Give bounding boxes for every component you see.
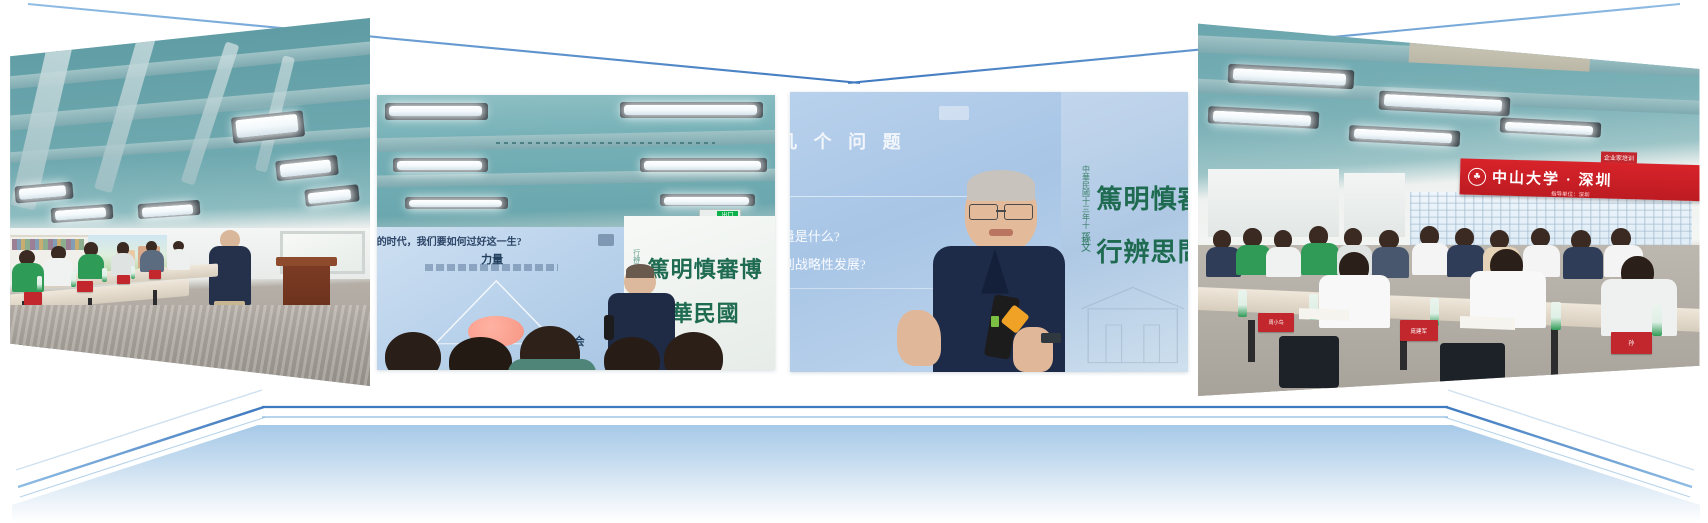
gallery-photo-speaker-portrait[interactable]: 几 个 问 题 量是什么? 到战略性发展? 中華民國十三年十一月 孫文 篤明慎審… — [790, 92, 1188, 372]
gallery-photo-classroom-wide[interactable] — [8, 18, 370, 386]
wall-calligraphy-line-2: 行辨思問學 — [1096, 232, 1188, 269]
wall-calligraphy-line-1: 篤明慎審博 — [648, 252, 763, 284]
name-card-text: 周小鸟 — [1269, 319, 1284, 326]
banner-top-right-text: 企业家培训 — [1601, 152, 1637, 164]
slide-bullet-2: 到战略性发展? — [790, 254, 866, 273]
university-emblem-icon: ☘ — [1468, 167, 1486, 185]
photo-1-scene — [8, 18, 370, 386]
slide-bullet-1: 量是什么? — [790, 226, 840, 245]
slide-title: 的时代，我们要如何过好这一生? — [377, 233, 522, 248]
banner-subtitle-text: 指导单位：深圳 — [1551, 189, 1590, 198]
name-card-text: 孙 — [1628, 338, 1634, 347]
photo-3-scene: 几 个 问 题 量是什么? 到战略性发展? 中華民國十三年十一月 孫文 篤明慎審… — [790, 92, 1188, 372]
name-card: 周小鸟 — [1258, 313, 1293, 332]
slide-logo — [598, 234, 613, 245]
gallery-photo-audience-seated[interactable]: ☘ 中山大学 · 深圳 企业家培训 指导单位：深圳 — [1198, 18, 1702, 396]
photo-2-scene: 出口 的时代，我们要如何过好这一生? 力量 机会 行辨思問學 篤明慎審博 中華民… — [377, 95, 775, 370]
gallery-banner: 出口 的时代，我们要如何过好这一生? 力量 机会 行辨思問學 篤明慎審博 中華民… — [0, 0, 1708, 523]
name-card: 孙 — [1611, 332, 1651, 354]
banner-main-text: 中山大学 · 深圳 — [1492, 166, 1613, 190]
wall-signature: 孫文 — [1077, 232, 1092, 271]
name-card: 庞建军 — [1400, 320, 1438, 340]
photo-4-scene: ☘ 中山大学 · 深圳 企业家培训 指导单位：深圳 — [1198, 18, 1702, 396]
name-card-text: 庞建军 — [1410, 327, 1427, 335]
wall-calligraphy-line-1: 篤明慎審博 — [1096, 179, 1188, 216]
slide-heading: 几 个 问 题 — [790, 128, 907, 154]
eyeglasses-icon — [969, 204, 1033, 218]
slide-logo — [939, 106, 969, 120]
gallery-photo-lecture-slide[interactable]: 出口 的时代，我们要如何过好这一生? 力量 机会 行辨思問學 篤明慎審博 中華民… — [377, 95, 775, 370]
